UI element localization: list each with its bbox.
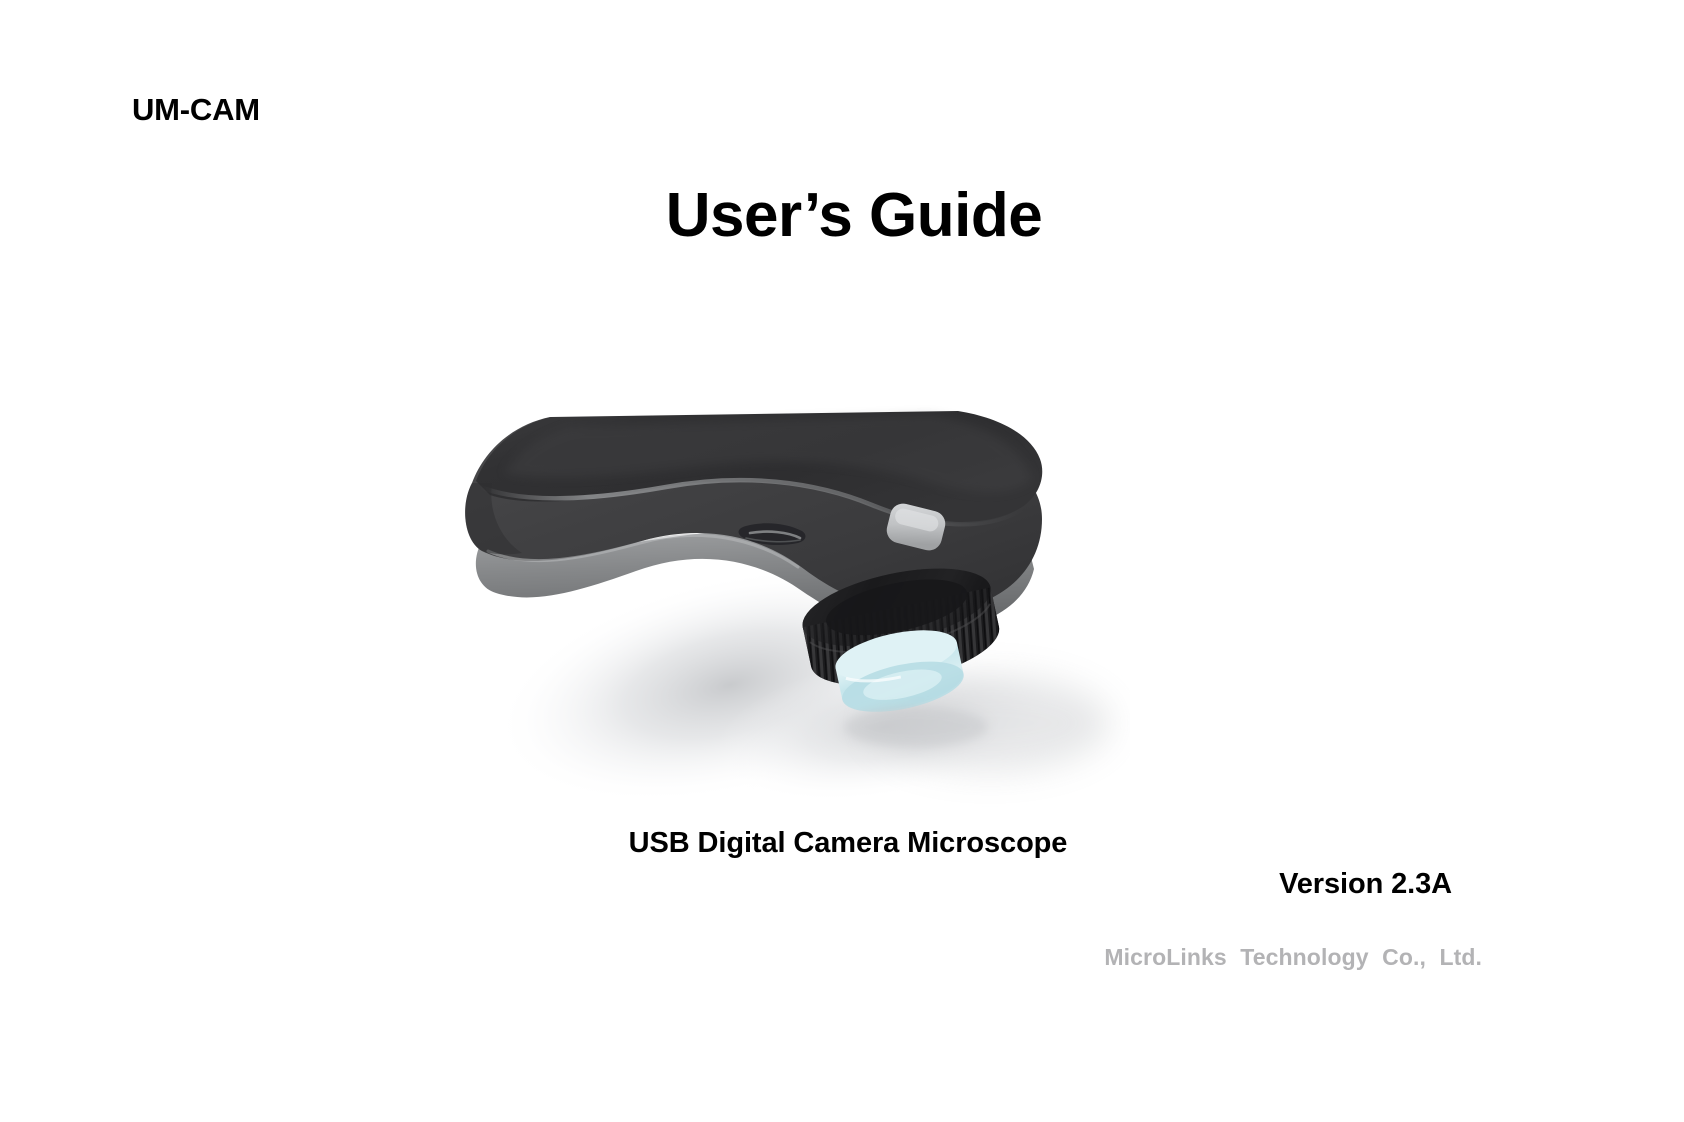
lens-contact-shadow — [844, 707, 988, 747]
model-code: UM-CAM — [132, 92, 260, 128]
document-page: UM-CAM User’s Guide — [0, 0, 1684, 1122]
version-label: Version 2.3A — [1279, 868, 1452, 901]
usb-digital-camera-microscope-image — [430, 355, 1130, 815]
product-caption: USB Digital Camera Microscope — [0, 827, 1684, 860]
product-illustration — [430, 355, 1130, 815]
page-title: User’s Guide — [0, 180, 1684, 251]
company-name: MicroLinks Technology Co., Ltd. — [1104, 944, 1482, 971]
